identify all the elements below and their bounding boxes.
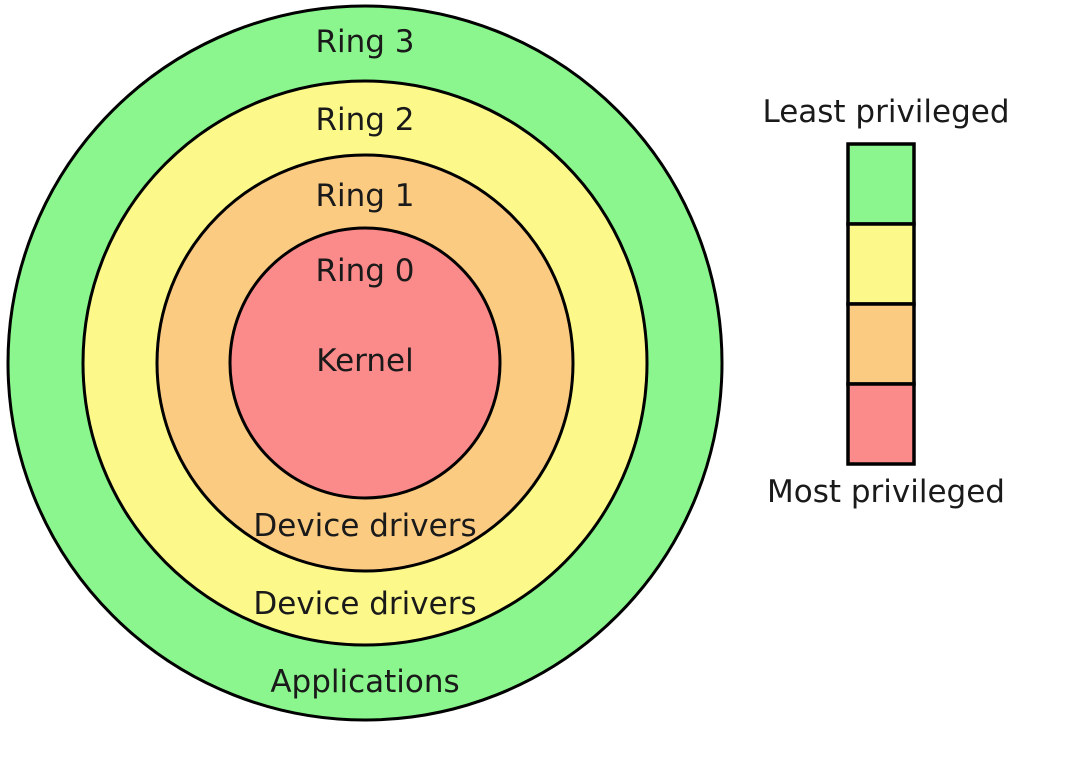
legend-least-privileged-label: Least privileged [762, 94, 1009, 130]
protection-rings-diagram: Ring 3 Ring 2 Ring 1 Ring 0 Kernel Devic… [0, 0, 1080, 779]
diagram-canvas: Ring 3 Ring 2 Ring 1 Ring 0 Kernel Devic… [0, 0, 1080, 779]
ring-3-role-label: Applications [270, 664, 459, 700]
ring-2-role-label: Device drivers [253, 586, 476, 622]
ring-2-label: Ring 2 [315, 102, 414, 138]
ring-2-swatch[interactable] [848, 224, 914, 304]
ring-3-label: Ring 3 [315, 24, 414, 60]
ring-0-role-label: Kernel [316, 343, 413, 379]
ring-1-role-label: Device drivers [253, 508, 476, 544]
least-privileged-swatch[interactable] [848, 144, 914, 224]
legend-most-privileged-label: Most privileged [767, 474, 1005, 510]
ring-0-label: Ring 0 [315, 253, 414, 289]
ring-1-swatch[interactable] [848, 304, 914, 384]
ring-1-label: Ring 1 [315, 178, 414, 214]
most-privileged-swatch[interactable] [848, 384, 914, 464]
